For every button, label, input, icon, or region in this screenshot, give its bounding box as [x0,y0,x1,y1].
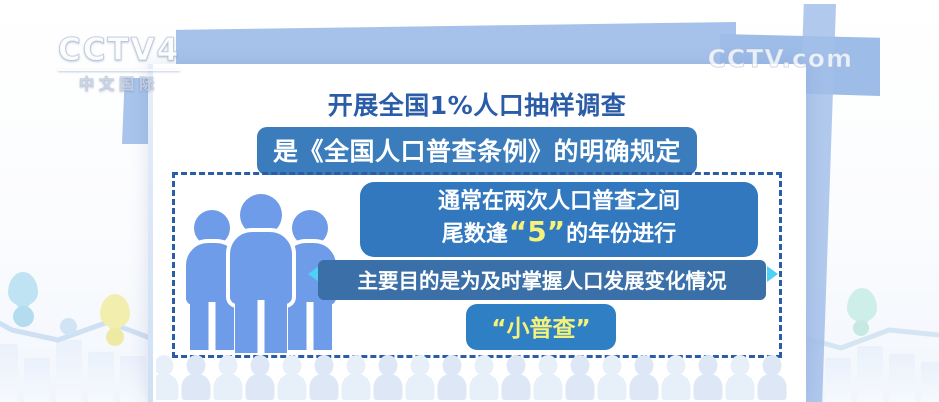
crowd-silhouette-icon [156,348,806,400]
timing-prefix: 尾数逢 [442,222,508,247]
decor-dot-mid [60,318,77,335]
subtitle-banner: 是《全国人口普查条例》的明确规定 [257,127,697,175]
callout-timing-line1: 通常在两次人口普查之间 [372,189,746,215]
timing-suffix: 的年份进行 [566,222,676,247]
callout-timing-line2: 尾数逢“5”的年份进行 [372,215,746,248]
decor-dot-yellow [106,328,124,346]
decor-dot-left [13,306,34,327]
arrow-left-icon [767,266,778,282]
decor-pin-left [8,272,38,306]
callout-purpose: 主要目的是为及时掌握人口发展变化情况 [318,260,766,300]
person-center [228,194,294,353]
infographic-card: 开展全国1%人口抽样调查 是《全国人口普查条例》的明确规定 通常在 [148,64,806,402]
page-title: 开展全国1%人口抽样调查 [148,86,806,122]
callout-timing: 通常在两次人口普查之间 尾数逢“5”的年份进行 [360,182,758,257]
decor-pin-yellow [100,294,130,328]
callout-nickname: “小普查” [466,304,616,350]
decor-dot-right [853,320,869,336]
timing-highlight-5: “5” [508,215,566,248]
decor-pin-right [847,288,877,322]
screenshot-root: 开展全国1%人口抽样调查 是《全国人口普查条例》的明确规定 通常在 [0,0,939,402]
